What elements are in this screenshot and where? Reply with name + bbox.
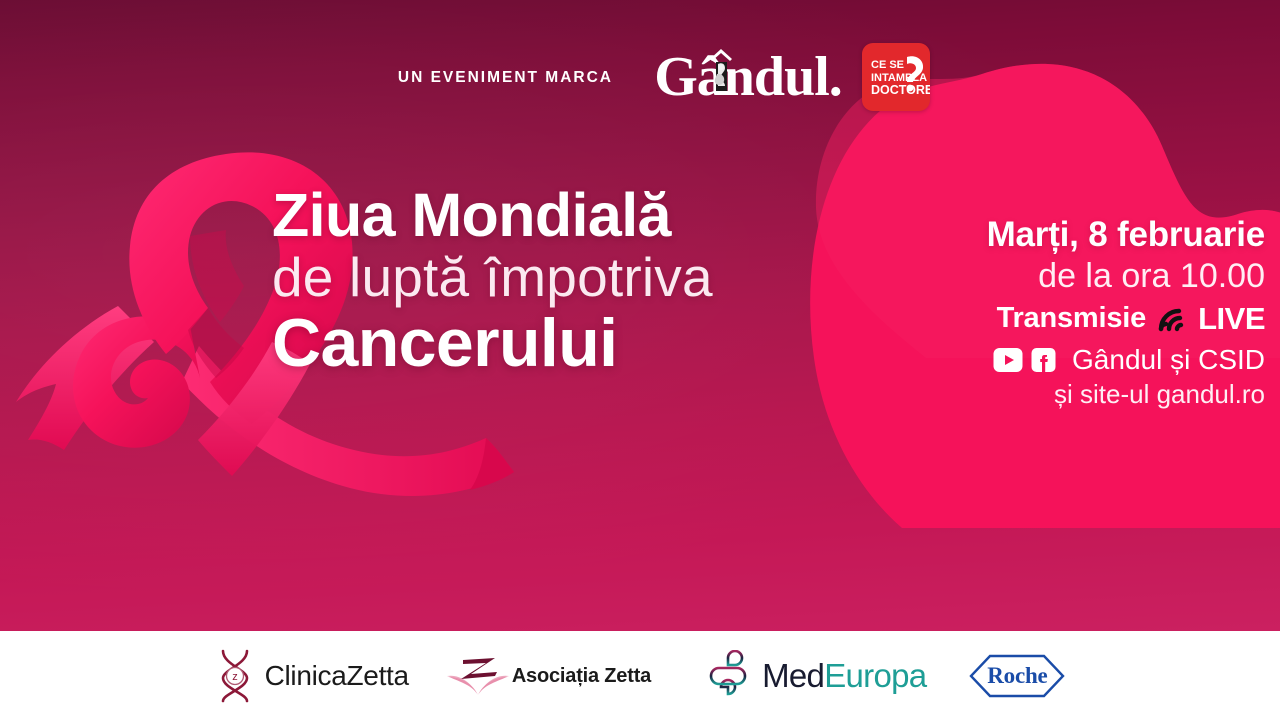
sponsor-clinica-zetta-label: ClinicaZetta [265,662,409,690]
headline-block: Ziua Mondială de luptă împotriva Canceru… [272,186,832,377]
gandul-wordmark: Gândul. [654,49,842,105]
medeuropa-part1: Med [762,657,824,694]
event-poster: UN EVENIMENT MARCA Gândul. CE SE INTAMPL… [0,0,1280,720]
sponsor-roche-label: Roche [968,653,1066,699]
csid-line1: CE SE [871,59,904,71]
csid-line3: DOCTORE [871,83,930,97]
gandul-logo[interactable]: Gândul. [659,46,837,108]
sponsor-asociatia-zetta[interactable]: Asociația Zetta [443,650,651,702]
sponsor-medeuropa-label: MedEuropa [762,659,926,692]
event-by-label: UN EVENIMENT MARCA [398,69,613,87]
headline-line-1: Ziua Mondială [272,186,832,246]
website-label: și site-ul gandul.ro [845,379,1265,410]
headline-line-3: Cancerului [272,309,832,377]
looped-cross-icon [703,650,753,702]
event-time: de la ora 10.00 [845,256,1265,297]
event-date: Marți, 8 februarie [845,215,1265,254]
sponsor-medeuropa[interactable]: MedEuropa [703,650,926,702]
channels-label: Gândul și CSID [1072,344,1265,376]
facebook-icon[interactable] [1031,347,1056,373]
sponsor-asociatia-zetta-label: Asociația Zetta [512,666,651,686]
medeuropa-part2: Europa [824,657,926,694]
poster-background: UN EVENIMENT MARCA Gândul. CE SE INTAMPL… [0,0,1280,631]
event-info-panel: Marți, 8 februarie de la ora 10.00 Trans… [845,215,1265,410]
wifi-broadcast-icon [1157,305,1191,333]
youtube-icon[interactable] [993,347,1023,373]
sponsor-roche[interactable]: Roche [968,653,1066,699]
svg-text:z: z [232,671,238,683]
poster-header: UN EVENIMENT MARCA Gândul. CE SE INTAMPL… [0,46,930,108]
dna-helix-icon: z [214,648,256,704]
headline-line-2: de luptă împotriva [272,248,832,307]
live-badge: LIVE [1198,301,1265,337]
csid-logo[interactable]: CE SE INTAMPLA DOCTORE [862,43,930,111]
broadcast-label: Transmisie [997,302,1147,335]
zetta-wings-icon [443,650,513,702]
social-channels-row: Gândul și CSID [845,344,1265,376]
broadcast-row: Transmisie LIVE [845,301,1265,337]
sponsor-clinica-zetta[interactable]: z ClinicaZetta [214,648,409,704]
thinker-statue-icon [706,48,736,98]
sponsor-bar: z ClinicaZetta Asociația Zetta [0,631,1280,720]
